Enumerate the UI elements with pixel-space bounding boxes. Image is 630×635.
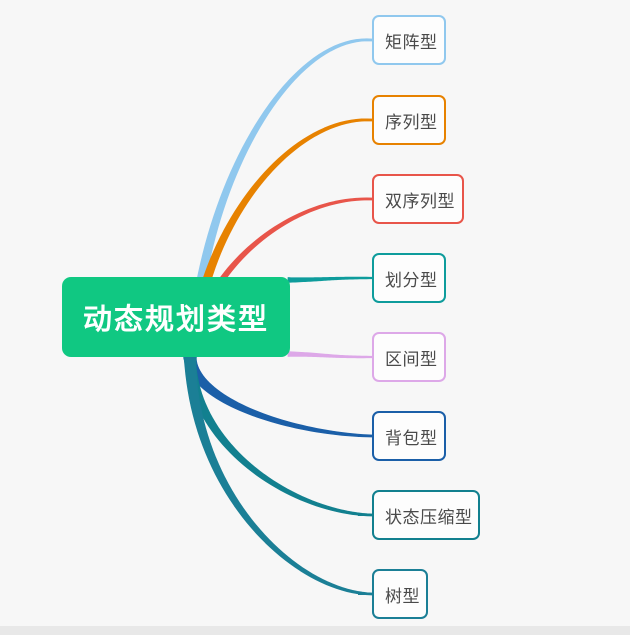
bottom-edge-strip — [0, 626, 630, 635]
node-matrix-type[interactable]: 矩阵型 — [372, 15, 446, 65]
node-interval-type-label: 区间型 — [385, 345, 438, 370]
node-double-sequence-type[interactable]: 双序列型 — [372, 174, 464, 224]
root-node[interactable]: 动态规划类型 — [62, 277, 290, 357]
node-knapsack-type[interactable]: 背包型 — [372, 411, 446, 461]
node-knapsack-type-label: 背包型 — [385, 424, 438, 449]
node-sequence-type[interactable]: 序列型 — [372, 95, 446, 145]
node-matrix-type-label: 矩阵型 — [385, 28, 438, 53]
node-tree-type-label: 树型 — [385, 582, 420, 607]
node-partition-type-label: 划分型 — [385, 266, 438, 291]
root-node-label: 动态规划类型 — [83, 296, 269, 338]
node-double-sequence-type-label: 双序列型 — [385, 187, 455, 212]
branch-connector — [184, 357, 372, 516]
node-state-compression-type[interactable]: 状态压缩型 — [372, 490, 480, 540]
node-tree-type[interactable]: 树型 — [372, 569, 428, 619]
node-interval-type[interactable]: 区间型 — [372, 332, 446, 382]
node-partition-type[interactable]: 划分型 — [372, 253, 446, 303]
mindmap-canvas: 动态规划类型 矩阵型 序列型 双序列型 划分型 区间型 背包型 状态压缩型 树型 — [0, 0, 630, 635]
node-state-compression-type-label: 状态压缩型 — [385, 503, 473, 528]
node-sequence-type-label: 序列型 — [385, 108, 438, 133]
